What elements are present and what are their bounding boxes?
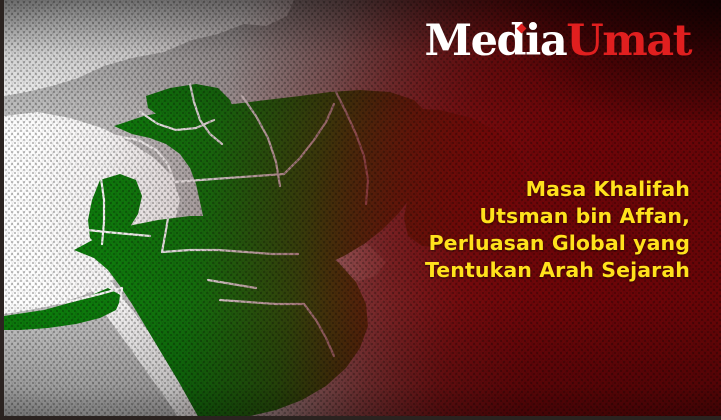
mediaumat-logo[interactable]: MediaUmat — [425, 20, 691, 63]
headline-line-1: Masa Khalifah — [290, 176, 690, 203]
logo-text-media: Media — [425, 16, 567, 66]
headline-title: Masa Khalifah Utsman bin Affan, Perluasa… — [290, 176, 690, 284]
article-hero-banner: MediaUmat Masa Khalifah Utsman bin Affan… — [0, 0, 721, 420]
headline-line-4: Tentukan Arah Sejarah — [290, 257, 690, 284]
logo-text-umat: Umat — [566, 16, 691, 66]
headline-line-2: Utsman bin Affan, — [290, 203, 690, 230]
headline-line-3: Perluasan Global yang — [290, 230, 690, 257]
